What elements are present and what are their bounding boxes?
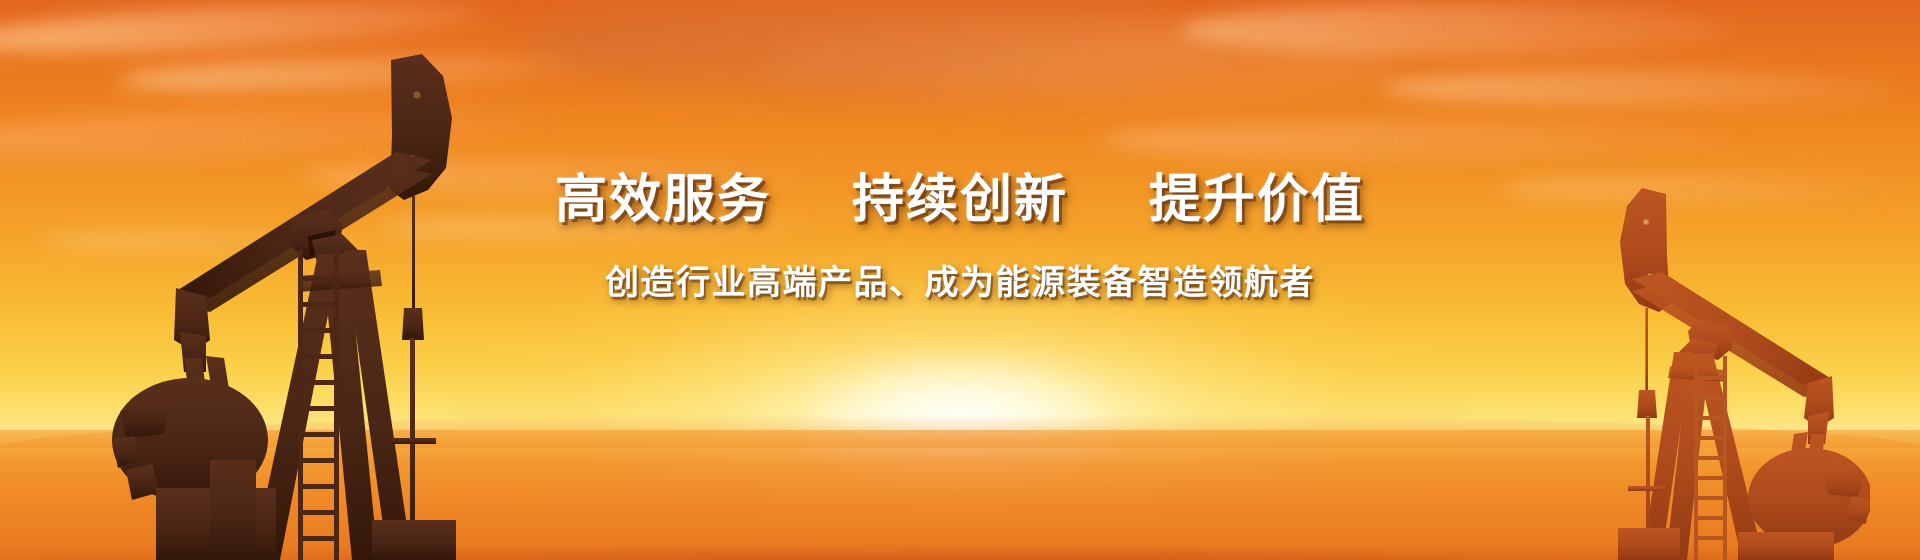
- hero-banner: 高效服务 持续创新 提升价值 创造行业高端产品、成为能源装备智造领航者: [0, 0, 1920, 560]
- foreground-grass: [0, 526, 1920, 560]
